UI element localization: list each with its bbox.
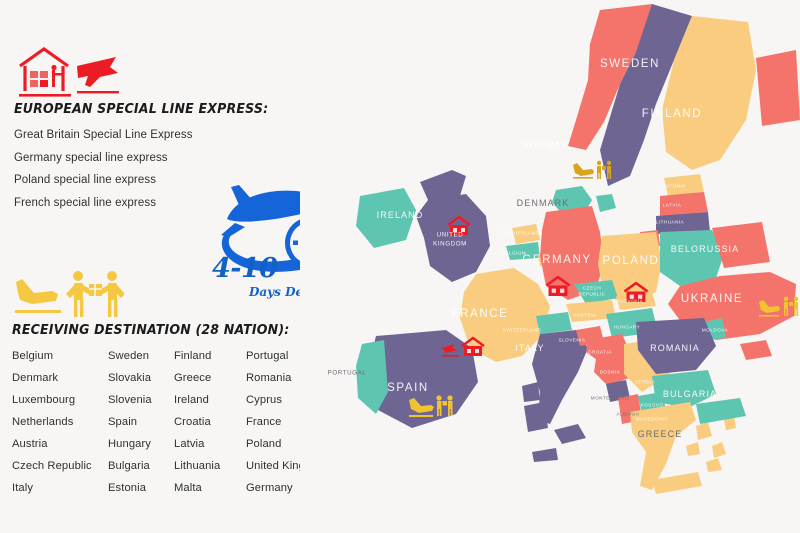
express-heading: EUROPEAN SPECIAL LINE EXPRESS: [14,101,268,117]
receiving-heading: RECEIVING DESTINATION (28 NATION): [12,322,289,338]
country-row: Czech Republic Bulgaria Lithuania United… [12,460,342,472]
country-cell: Lithuania [174,460,246,472]
country-cell: Malta [174,482,246,494]
country-row: Luxembourg Slovenia Ireland Cyprus [12,394,342,406]
island-sardinia [524,402,548,432]
country-cell: Germany [246,482,293,494]
country-row: Austria Hungary Latvia Poland [12,438,342,450]
country-latvia [660,192,708,216]
country-cell: France [246,416,281,428]
country-cell: Slovenia [108,394,174,406]
country-cell: Czech Republic [12,460,108,472]
express-line-item: Poland special line express [14,174,193,186]
country-row: Italy Estonia Malta Germany [12,482,342,494]
handover-marker-spain [408,394,454,418]
express-line-item: Germany special line express [14,152,193,164]
country-row: Netherlands Spain Croatia France [12,416,342,428]
country-cell: Romania [246,372,291,384]
country-cell: Hungary [108,438,174,450]
country-cell: Denmark [12,372,108,384]
country-cell: Latvia [174,438,246,450]
express-line-list: Great Britain Special Line Express Germa… [14,129,193,219]
country-row: Belgium Sweden Finland Portugal [12,350,342,362]
country-cell: Slovakia [108,372,174,384]
europe-map: SWEDENFINLANDNORWAYDENMARKIRELANDUNITEDK… [300,0,800,533]
country-cell: Poland [246,438,281,450]
warehouse-marker-poland [622,282,650,303]
country-row: Denmark Slovakia Greece Romania [12,372,342,384]
warehouse-marker-germany [544,276,572,297]
delivery-days-value: 4-10 [212,253,278,284]
country-cell: Finland [174,350,246,362]
country-cell: Belgium [12,350,108,362]
express-line-item: French special line express [14,197,193,209]
country-cell: Italy [12,482,108,494]
country-cell: Spain [108,416,174,428]
country-cell: Croatia [174,416,246,428]
country-cell: Sweden [108,350,174,362]
warehouse-marker-uk [446,216,472,236]
country-cell: Bulgaria [108,460,174,472]
handover-marker-sweden [572,160,612,180]
europe-map-svg [300,0,800,533]
landing-plane-handover-icon [12,270,124,322]
country-cell: Austria [12,438,108,450]
country-cell: Greece [174,372,246,384]
infographic-root: EUROPEAN SPECIAL LINE EXPRESS: Great Bri… [0,0,800,533]
country-cell: Ireland [174,394,246,406]
warehouse-plane-icon [14,44,122,100]
country-cell: Estonia [108,482,174,494]
country-cell: Portugal [246,350,288,362]
handover-marker-ukraine [758,296,800,318]
express-line-item: Great Britain Special Line Express [14,129,193,141]
country-cell: Luxembourg [12,394,108,406]
warehouse-marker-france [442,336,490,360]
country-cell: Netherlands [12,416,108,428]
receiving-country-grid: Belgium Sweden Finland Portugal Denmark … [12,350,342,504]
country-cell: Cyprus [246,394,282,406]
